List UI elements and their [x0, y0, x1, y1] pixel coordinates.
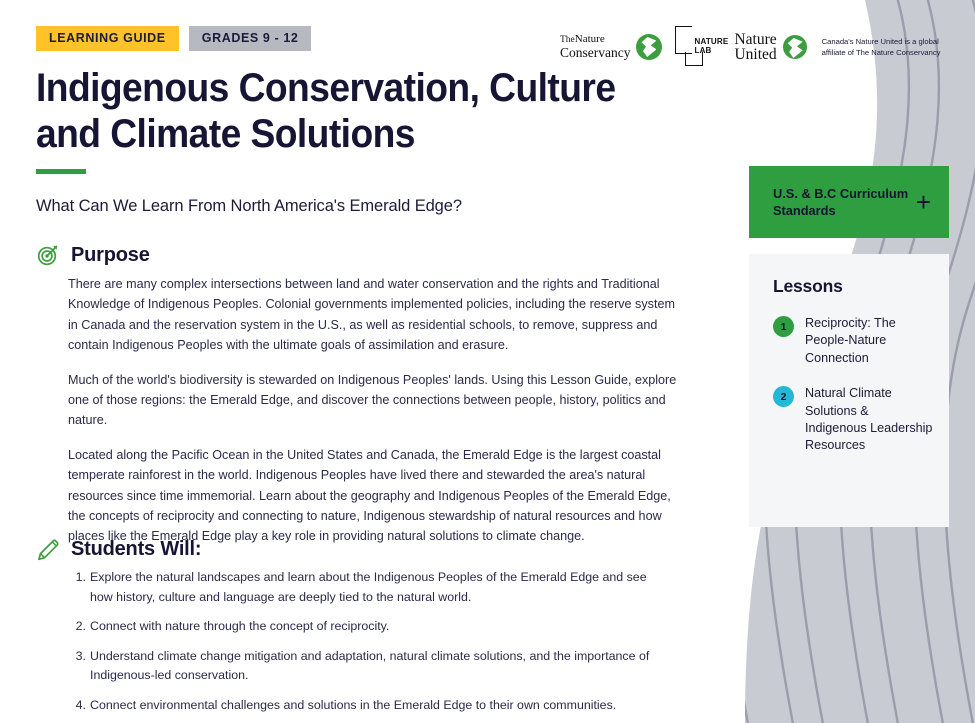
logo-affiliate-tagline: Canada's Nature United is a global affil…	[822, 36, 946, 58]
purpose-paragraph: Located along the Pacific Ocean in the U…	[68, 445, 680, 547]
logo-nature-united: Nature United	[734, 32, 806, 63]
badge-grades: GRADES 9 - 12	[189, 26, 312, 51]
students-will-list: 1. Explore the natural landscapes and le…	[68, 568, 668, 723]
purpose-paragraph: There are many complex intersections bet…	[68, 274, 680, 356]
badge-learning-guide: LEARNING GUIDE	[36, 26, 179, 51]
list-item-text: Explore the natural landscapes and learn…	[90, 570, 647, 604]
logo-tnc-the: The	[560, 35, 575, 45]
list-item-text: Connect with nature through the concept …	[90, 619, 389, 633]
list-item-number: 2.	[68, 617, 86, 637]
lesson-label: Natural Climate Solutions & Indigenous L…	[805, 385, 933, 455]
list-item-number: 4.	[68, 696, 86, 716]
purpose-heading-text: Purpose	[71, 244, 150, 267]
list-item: 2. Connect with nature through the conce…	[68, 617, 668, 637]
logo-nature-lab: NATURE LAB	[675, 24, 721, 70]
students-will-heading-text: Students Will:	[71, 538, 201, 561]
lesson-number-badge: 2	[773, 386, 794, 407]
nature-united-line1: Nature	[734, 31, 776, 48]
list-item-number: 1.	[68, 568, 86, 588]
logo-the-nature-conservancy: TheNature Conservancy	[560, 34, 662, 60]
lessons-heading: Lessons	[773, 276, 933, 297]
purpose-paragraph: Much of the world's biodiversity is stew…	[68, 370, 680, 431]
plus-icon[interactable]: +	[916, 189, 931, 215]
list-item-text: Understand climate change mitigation and…	[90, 649, 649, 683]
page-subtitle: What Can We Learn From North America's E…	[36, 197, 462, 216]
nature-united-line2: United	[734, 46, 776, 63]
logo-row: TheNature Conservancy NATURE LAB Nature …	[560, 24, 946, 70]
logo-tnc-conservancy: Conservancy	[560, 46, 630, 60]
logo-tnc-wordmark: TheNature Conservancy	[560, 34, 630, 59]
badge-row: LEARNING GUIDE GRADES 9 - 12	[36, 26, 311, 51]
logo-tnc-nature: Nature	[575, 33, 605, 45]
logo-nature-lab-wordmark: NATURE LAB	[694, 37, 728, 55]
lessons-panel: Lessons 1 Reciprocity: The People-Nature…	[749, 254, 949, 527]
nature-lab-bracket-icon	[675, 26, 692, 54]
lesson-item-2[interactable]: 2 Natural Climate Solutions & Indigenous…	[773, 385, 933, 455]
logo-nature-united-wordmark: Nature United	[734, 32, 776, 63]
list-item-number: 3.	[68, 647, 86, 667]
nature-lab-line2: LAB	[694, 46, 711, 55]
learning-guide-page: LEARNING GUIDE GRADES 9 - 12 TheNature C…	[0, 0, 975, 723]
page-title: Indigenous Conservation, Culture and Cli…	[36, 66, 668, 157]
oak-leaf-globe-icon-2	[783, 35, 807, 59]
lesson-number-badge: 1	[773, 316, 794, 337]
list-item: 1. Explore the natural landscapes and le…	[68, 568, 668, 607]
curriculum-standards-title: U.S. & B.C Curriculum Standards	[773, 185, 916, 219]
lesson-label: Reciprocity: The People-Nature Connectio…	[805, 315, 933, 367]
pencil-icon	[36, 537, 60, 561]
list-item: 3. Understand climate change mitigation …	[68, 647, 668, 686]
list-item: 4. Connect environmental challenges and …	[68, 696, 668, 716]
purpose-section-heading: Purpose	[36, 243, 150, 267]
list-item-text: Connect environmental challenges and sol…	[90, 698, 616, 712]
students-will-section-heading: Students Will:	[36, 537, 201, 561]
purpose-body: There are many complex intersections bet…	[68, 274, 680, 547]
target-icon	[36, 243, 60, 267]
oak-leaf-globe-icon	[636, 34, 662, 60]
green-accent-bar	[36, 169, 86, 174]
curriculum-standards-card[interactable]: U.S. & B.C Curriculum Standards +	[749, 166, 949, 238]
nature-lab-line1: NATURE	[694, 37, 728, 46]
lesson-item-1[interactable]: 1 Reciprocity: The People-Nature Connect…	[773, 315, 933, 367]
